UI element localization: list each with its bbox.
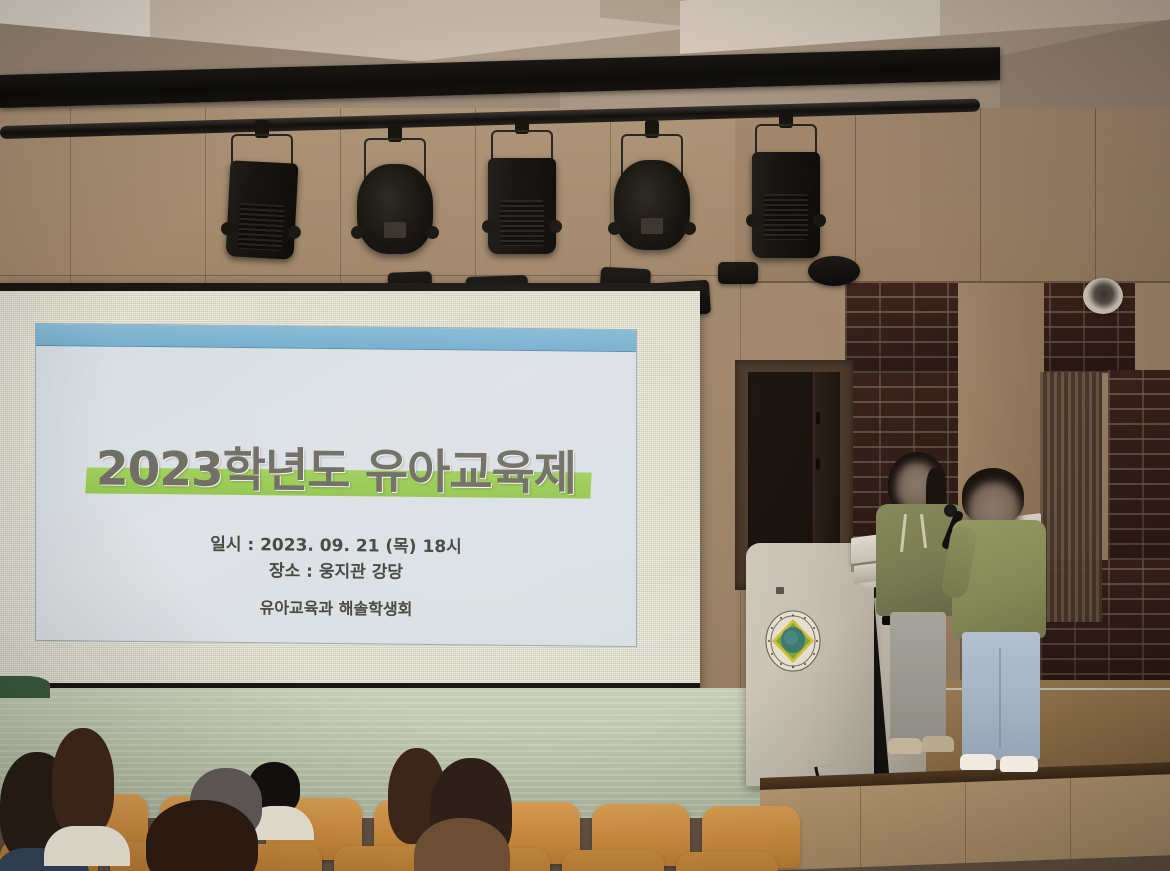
front-fixture-5	[718, 262, 758, 284]
lamp-knob	[221, 222, 235, 236]
presenter-left-pants	[890, 612, 946, 748]
projected-slide: 2023학년도 유아교육제 일시 : 2023. 09. 21 (목) 18시 …	[35, 323, 637, 647]
slide-place-line: 장소 : 웅지관 강당	[36, 554, 636, 585]
screen-surface: 2023학년도 유아교육제 일시 : 2023. 09. 21 (목) 18시 …	[0, 291, 700, 683]
presenter-left-shoe	[888, 738, 922, 754]
jeans-center-seam	[999, 648, 1001, 748]
podium-logo-small	[776, 587, 784, 594]
stage-front-seam	[1070, 778, 1071, 859]
lamp-knob	[683, 222, 696, 235]
seat[interactable]	[676, 852, 778, 871]
lamp-knob	[608, 222, 621, 235]
stage-front-seam	[965, 782, 966, 863]
wall-seam	[855, 108, 856, 281]
door-hinge-icon	[816, 458, 820, 470]
presenter-right-jeans	[962, 632, 1040, 760]
lamp-knob	[549, 220, 562, 233]
slide-organizer-line: 유아교육과 해솔학생회	[36, 592, 636, 622]
slide-title: 2023학년도 유아교육제	[36, 429, 636, 504]
stage-front-seam	[860, 786, 861, 867]
stage-front-panel	[760, 774, 1170, 871]
seat[interactable]	[562, 850, 664, 871]
lamp-knob	[482, 220, 495, 233]
slide-header-bar	[36, 324, 636, 352]
presenter-right-shoe	[1000, 756, 1038, 772]
lamp-lens	[641, 218, 663, 234]
projection-screen: 2023학년도 유아교육제 일시 : 2023. 09. 21 (목) 18시 …	[0, 283, 700, 693]
lamp-knob	[746, 214, 759, 227]
presenter-left-shoe	[922, 736, 954, 752]
fresnel-fixture-icon	[488, 158, 556, 254]
auditorium-photo: 2023학년도 유아교육제 일시 : 2023. 09. 21 (목) 18시 …	[0, 0, 1170, 871]
lamp-knob	[426, 226, 439, 239]
front-fixture-6	[808, 256, 860, 286]
microphone-head-icon	[944, 504, 957, 517]
stage-prop-green	[0, 676, 50, 698]
lamp-knob	[813, 214, 826, 227]
fresnel-fixture-icon	[752, 152, 820, 258]
lamp-knob	[351, 226, 364, 239]
audience-shoulder	[44, 826, 130, 866]
par-fixture-icon	[614, 160, 690, 250]
door-hinge-icon	[816, 412, 820, 424]
slide-title-block: 2023학년도 유아교육제	[36, 429, 636, 504]
university-emblem	[764, 609, 822, 673]
par-fixture-icon	[357, 164, 433, 254]
audience-hair	[52, 728, 114, 836]
fresnel-fixture-icon	[226, 160, 299, 259]
wall-seam	[1095, 108, 1096, 281]
presenter-right	[952, 468, 1050, 778]
presenter-right-shoe	[960, 754, 996, 770]
wall-seam	[980, 108, 981, 281]
ceiling-speaker-icon	[1083, 278, 1123, 314]
lamp-lens	[384, 222, 406, 238]
